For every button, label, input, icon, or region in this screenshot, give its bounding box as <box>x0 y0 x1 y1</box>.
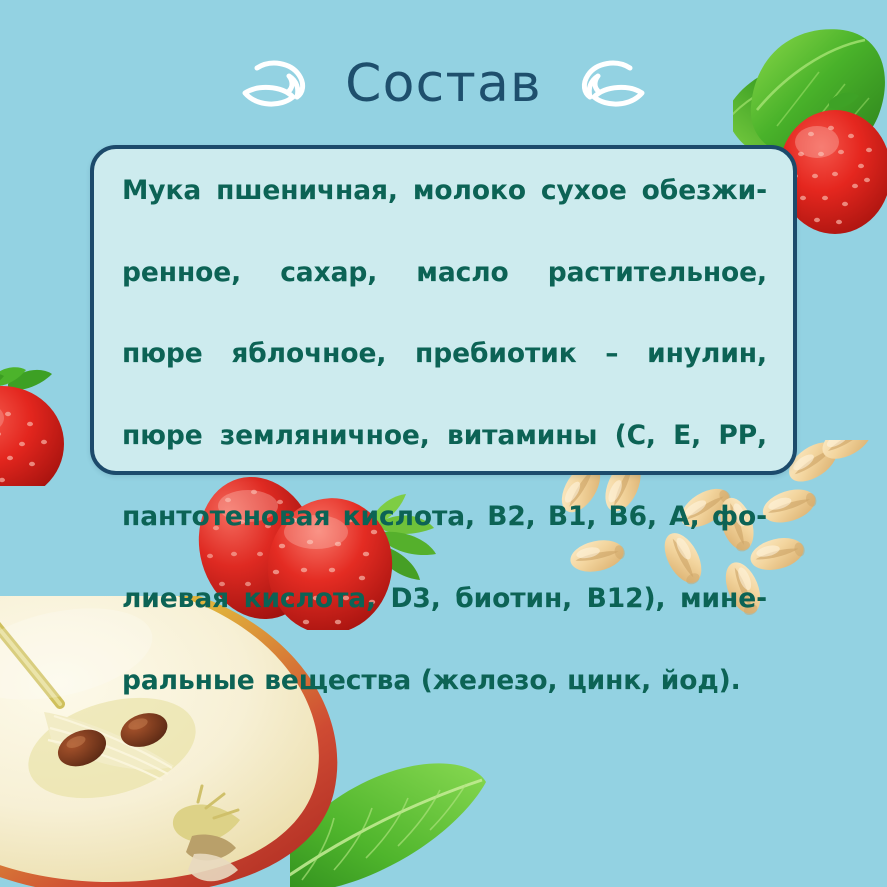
ingredients-line: лиевая кислота, D3, биотин, В12), мине- <box>122 579 767 661</box>
wheat-grain-icon <box>816 440 879 466</box>
strawberry-left-edge <box>0 358 104 486</box>
apple-calyx <box>173 786 240 881</box>
ingredients-card: Мука пшеничная, молоко сухое обезжи- рен… <box>90 145 797 475</box>
ingredients-text: Мука пшеничная, молоко сухое обезжи- рен… <box>122 171 767 701</box>
ingredients-line: ренное, сахар, масло растительное, <box>122 253 767 335</box>
ingredients-line: Мука пшеничная, молоко сухое обезжи- <box>122 171 767 253</box>
leaf-swirl-ornament-mirrored-icon <box>568 55 646 113</box>
page-title: Состав <box>345 58 542 110</box>
promo-canvas: Состав Мука пшеничная, молоко сухое обез… <box>0 0 887 887</box>
leaf-icon <box>0 367 52 390</box>
apple-seed <box>116 707 172 752</box>
ingredients-line: пюре яблочное, пребиотик – инулин, <box>122 334 767 416</box>
apple-stem <box>0 596 60 704</box>
green-leaf-bottom <box>290 752 505 887</box>
apple-seed <box>52 723 111 773</box>
strawberry-icon <box>0 386 64 486</box>
wheat-grain-icon <box>759 483 821 529</box>
ingredients-line: пантотеновая кислота, В2, В1, В6, А, фо- <box>122 497 767 579</box>
section-header: Состав <box>0 46 887 122</box>
ingredients-line: ральные вещества (железо, цинк, йод). <box>122 661 767 702</box>
ingredients-line: пюре земляничное, витамины (С, Е, РР, <box>122 416 767 498</box>
leaf-swirl-ornament-icon <box>241 55 319 113</box>
